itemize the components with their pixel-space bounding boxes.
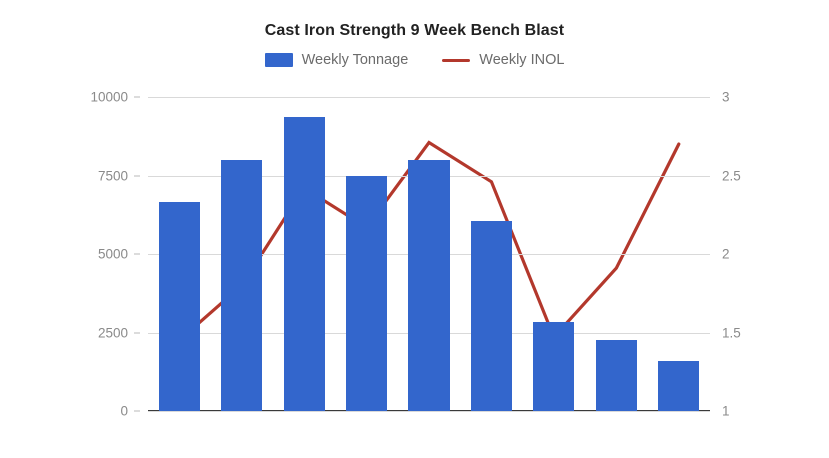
legend-bar-swatch-icon bbox=[265, 53, 293, 67]
y-axis-right-tick-label: 3 bbox=[722, 90, 730, 105]
y-axis-left-tick-label: 5000 bbox=[98, 247, 128, 262]
legend-label-weekly-inol: Weekly INOL bbox=[479, 52, 564, 68]
bar-weekly-tonnage[interactable] bbox=[159, 202, 200, 411]
y-axis-left-tick-mark bbox=[134, 254, 140, 255]
bar-weekly-tonnage[interactable] bbox=[346, 176, 387, 412]
y-axis-right-tick-label: 2.5 bbox=[722, 168, 741, 183]
bar-weekly-tonnage[interactable] bbox=[408, 160, 449, 411]
chart-legend: Weekly Tonnage Weekly INOL bbox=[0, 52, 829, 68]
y-axis-left-tick-mark bbox=[134, 332, 140, 333]
chart-container: Cast Iron Strength 9 Week Bench Blast We… bbox=[0, 0, 829, 458]
y-axis-right-tick-label: 1 bbox=[722, 404, 730, 419]
y-axis-left-tick-label: 10000 bbox=[90, 90, 128, 105]
bar-weekly-tonnage[interactable] bbox=[658, 361, 699, 411]
y-axis-left-tick-label: 2500 bbox=[98, 325, 128, 340]
gridline bbox=[148, 411, 710, 412]
y-axis-left: 025005000750010000 bbox=[80, 97, 140, 411]
bar-weekly-tonnage[interactable] bbox=[284, 117, 325, 411]
legend-item-weekly-tonnage[interactable]: Weekly Tonnage bbox=[265, 52, 409, 68]
y-axis-left-tick-mark bbox=[134, 97, 140, 98]
bar-weekly-tonnage[interactable] bbox=[221, 160, 262, 411]
y-axis-left-tick-mark bbox=[134, 411, 140, 412]
y-axis-left-tick-label: 0 bbox=[120, 404, 128, 419]
y-axis-right-tick-label: 1.5 bbox=[722, 325, 741, 340]
gridline bbox=[148, 97, 710, 98]
y-axis-right: 11.522.53 bbox=[722, 97, 782, 411]
y-axis-left-tick-label: 7500 bbox=[98, 168, 128, 183]
y-axis-left-tick-mark bbox=[134, 175, 140, 176]
bar-weekly-tonnage[interactable] bbox=[533, 322, 574, 411]
bar-weekly-tonnage[interactable] bbox=[471, 221, 512, 411]
legend-label-weekly-tonnage: Weekly Tonnage bbox=[302, 52, 409, 68]
plot-area bbox=[148, 97, 710, 411]
legend-item-weekly-inol[interactable]: Weekly INOL bbox=[442, 52, 564, 68]
legend-line-swatch-icon bbox=[442, 59, 470, 62]
bar-weekly-tonnage[interactable] bbox=[596, 340, 637, 411]
y-axis-right-tick-label: 2 bbox=[722, 247, 730, 262]
chart-title: Cast Iron Strength 9 Week Bench Blast bbox=[0, 22, 829, 40]
